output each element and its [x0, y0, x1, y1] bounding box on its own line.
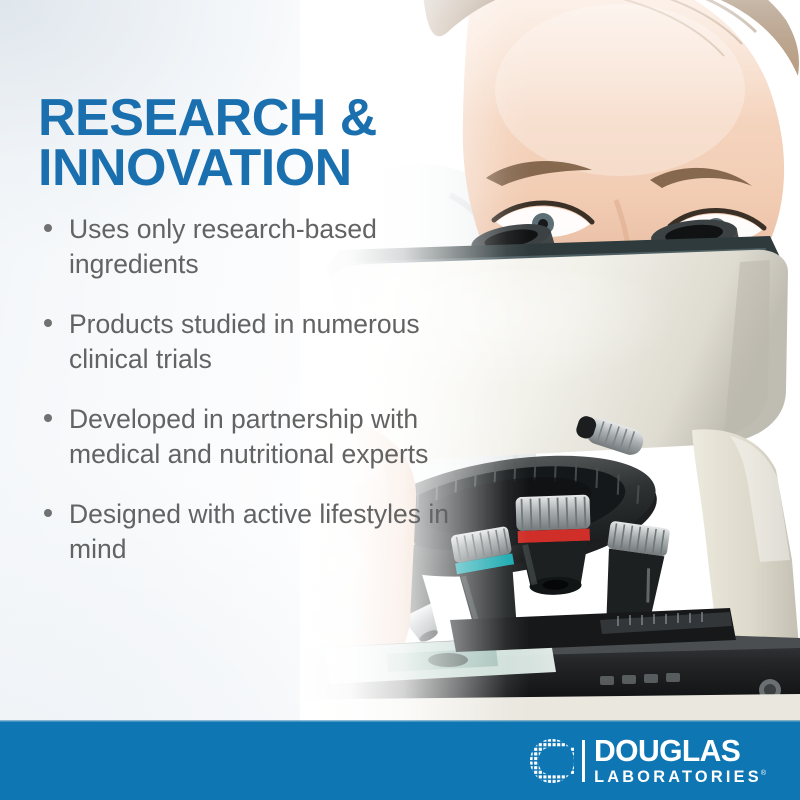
list-item: Uses only research-based ingredients	[40, 212, 460, 282]
logo-divider	[582, 740, 585, 782]
logo-wordmark: DOUGLAS LABORATORIES ®	[594, 737, 766, 785]
bullet-dot-icon	[44, 509, 52, 517]
logo-subtitle-row: LABORATORIES ®	[594, 769, 766, 785]
list-item-label: Developed in partnership with medical an…	[69, 404, 428, 469]
list-item: Developed in partnership with medical an…	[40, 402, 460, 472]
registered-trademark-icon: ®	[761, 770, 766, 777]
douglas-laboratories-logo: DOUGLAS LABORATORIES ®	[529, 736, 766, 786]
logo-subtitle: LABORATORIES	[594, 769, 762, 785]
benefit-list: Uses only research-based ingredients Pro…	[40, 212, 460, 567]
bullet-dot-icon	[44, 414, 52, 422]
page-title: RESEARCH & INNOVATION	[38, 93, 468, 194]
footer-bar: DOUGLAS LABORATORIES ®	[0, 722, 800, 800]
list-item-label: Uses only research-based ingredients	[69, 214, 377, 279]
logo-brand-name: DOUGLAS	[594, 737, 761, 766]
douglas-dot-matrix-c-mark	[529, 738, 575, 784]
bullet-dot-icon	[44, 319, 52, 327]
list-item: Designed with active lifestyles in mind	[40, 497, 460, 567]
list-item-label: Designed with active lifestyles in mind	[69, 499, 449, 564]
poster-canvas: RESEARCH & INNOVATION Uses only research…	[0, 0, 800, 800]
list-item: Products studied in numerous clinical tr…	[40, 307, 460, 377]
bullet-dot-icon	[44, 224, 52, 232]
list-item-label: Products studied in numerous clinical tr…	[69, 309, 420, 374]
